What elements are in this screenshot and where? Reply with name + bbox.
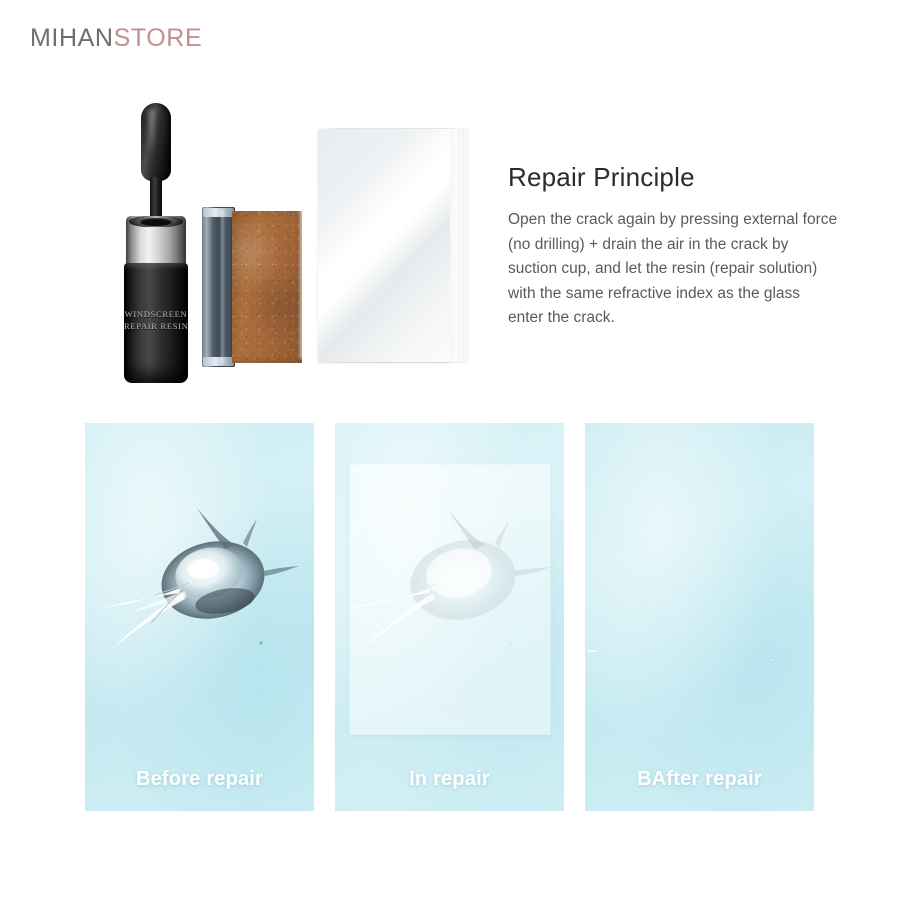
curing-film-stack	[318, 129, 470, 364]
dropper-bulb	[141, 103, 171, 181]
panel-in-repair: In repair	[335, 423, 564, 811]
panel-caption-in-repair: In repair	[335, 768, 564, 791]
panel-caption-before: Before repair	[85, 768, 314, 791]
brand-logo: MIHANSTORE	[30, 24, 202, 53]
blade-cap-top	[203, 208, 234, 217]
brand-name-secondary: STORE	[114, 24, 203, 52]
film-sheet-top	[318, 129, 450, 362]
razor-blade	[202, 207, 235, 367]
bottle-label: WINDSCREEN REPAIR RESIN	[124, 309, 188, 332]
sandpaper-edge-highlight	[300, 209, 307, 359]
repaired-glass-traces	[585, 423, 814, 811]
bottle-label-line-2: REPAIR RESIN	[124, 321, 189, 331]
blade-cap-bottom	[203, 357, 234, 366]
bottle-body: WINDSCREEN REPAIR RESIN	[124, 263, 188, 383]
panel-before-repair: Before repair	[85, 423, 314, 811]
blade-and-sandpaper	[202, 207, 304, 367]
bottle-label-line-1: WINDSCREEN	[125, 309, 188, 319]
bottle-metal-collar	[126, 216, 186, 268]
repair-principle-section: Repair Principle Open the crack again by…	[508, 162, 838, 331]
brand-name-primary: MIHAN	[30, 24, 114, 52]
curing-film-overlay	[350, 465, 550, 734]
product-photo: WINDSCREEN REPAIR RESIN	[70, 95, 490, 395]
panel-caption-after: BAfter repair	[585, 768, 814, 791]
page-title: Repair Principle	[508, 162, 838, 192]
sandpaper-strip	[232, 211, 302, 363]
crack-illustration	[85, 423, 314, 811]
principle-description: Open the crack again by pressing externa…	[508, 208, 838, 331]
comparison-panels: Before repair	[85, 423, 814, 811]
resin-bottle: WINDSCREEN REPAIR RESIN	[110, 103, 202, 388]
panel-after-repair: BAfter repair	[585, 423, 814, 811]
